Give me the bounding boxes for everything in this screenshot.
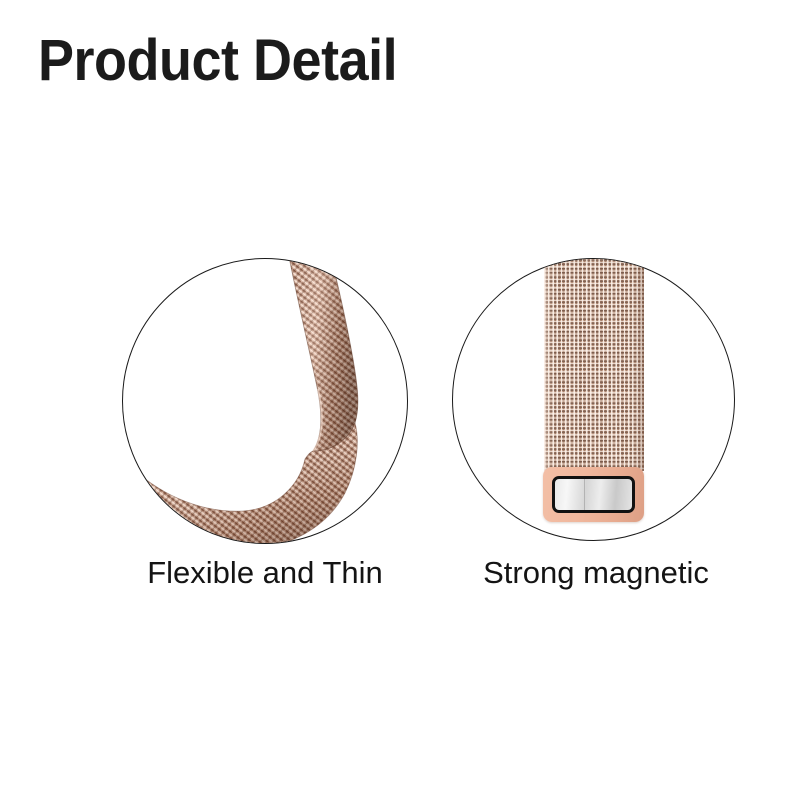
page-title: Product Detail <box>38 30 397 92</box>
mesh-strap-magnetic-photo <box>453 259 734 540</box>
feature-flexible-and-thin <box>122 258 408 544</box>
mesh-strap-vertical <box>544 259 644 471</box>
clasp-metal-plate <box>552 476 635 513</box>
product-photo-circle-right <box>452 258 735 541</box>
feature-caption-flexible-and-thin: Flexible and Thin <box>115 554 415 592</box>
magnetic-clasp <box>543 467 644 522</box>
mesh-band-curve-shape <box>123 259 407 543</box>
feature-caption-strong-magnetic: Strong magnetic <box>446 554 746 592</box>
feature-strong-magnetic <box>452 258 735 541</box>
band-upper-tail <box>289 259 358 451</box>
product-photo-circle-left <box>122 258 408 544</box>
product-detail-page: Product Detail <box>0 0 800 800</box>
mesh-band-curved-photo <box>123 259 407 543</box>
